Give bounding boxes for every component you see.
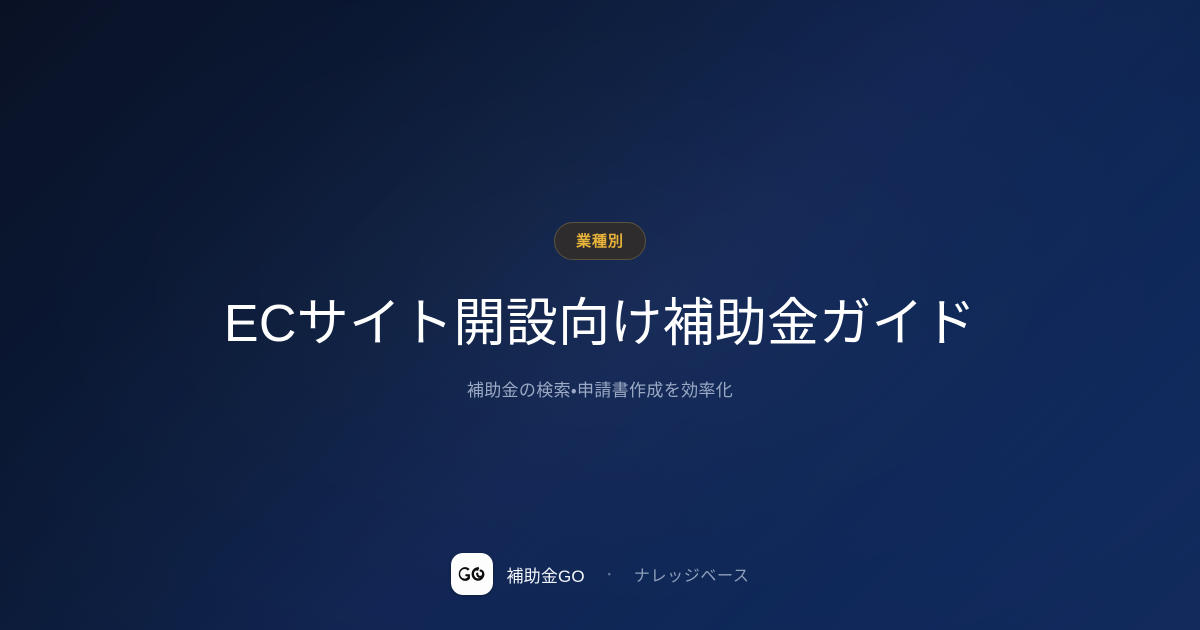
brand-name: 補助金GO [507, 562, 585, 587]
go-logo-icon [451, 553, 493, 595]
page-title: ECサイト開設向け補助金ガイド [224, 295, 976, 353]
brand-footer: 補助金GO ・ ナレッジベース [0, 553, 1200, 595]
brand-section-label: ナレッジベース [634, 562, 750, 586]
page-subtitle: 補助金の検索・申請書作成を効率化 [467, 378, 733, 404]
brand-separator: ・ [599, 568, 620, 581]
category-badge: 業種別 [554, 222, 646, 260]
hero-section: 業種別 ECサイト開設向け補助金ガイド 補助金の検索・申請書作成を効率化 [0, 222, 1200, 404]
og-card: 業種別 ECサイト開設向け補助金ガイド 補助金の検索・申請書作成を効率化 補助金… [0, 0, 1200, 630]
